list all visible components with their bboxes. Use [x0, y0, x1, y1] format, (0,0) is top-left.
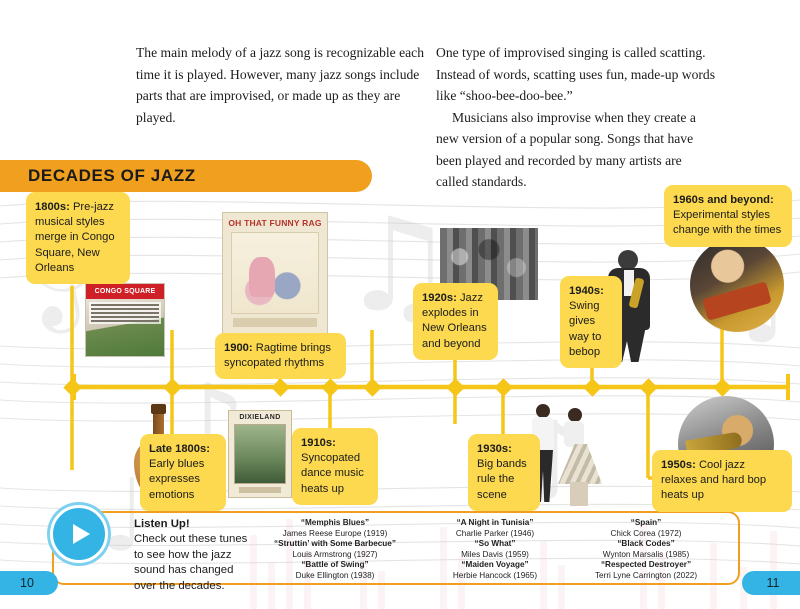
song-title: “Respected Destroyer”	[556, 560, 736, 571]
song-credit: Louis Armstrong (1927)	[246, 550, 424, 561]
timeline-callout-1910s: 1910s: Syncopated dance music heats up	[292, 428, 378, 505]
ragtime-sheet-title: OH THAT FUNNY RAG	[223, 213, 327, 228]
timeline-callout-1800s: 1800s: Pre-jazz musical styles merge in …	[26, 192, 130, 284]
play-triangle-icon	[73, 524, 90, 544]
song-credit: Duke Ellington (1938)	[246, 571, 424, 582]
song-title: “Memphis Blues”	[246, 518, 424, 529]
paragraph: The main melody of a jazz song is recogn…	[136, 42, 426, 128]
song-title: “Spain”	[556, 518, 736, 529]
listen-up-body: Check out these tunes to see how the jaz…	[134, 533, 247, 591]
book-spread-page: 𝄞 ♪ ♫ ♪ ♫ ♩ The main melody of a jazz so…	[0, 0, 800, 609]
song-credit: Terri Lyne Carrington (2022)	[556, 571, 736, 582]
song-credit: Herbie Hancock (1965)	[420, 571, 570, 582]
song-title: “Struttin’ with Some Barbecue”	[246, 539, 424, 550]
dixieland-sheet-music-photo: DIXIELAND	[228, 410, 292, 498]
song-title: “Maiden Voyage”	[420, 560, 570, 571]
play-button[interactable]	[50, 505, 108, 563]
song-list-column-2: “A Night in Tunisia” Charlie Parker (194…	[420, 518, 570, 582]
timeline-callout-1930s: 1930s: Big bands rule the scene	[468, 434, 540, 511]
song-credit: Charlie Parker (1946)	[420, 529, 570, 540]
song-credit: Miles Davis (1959)	[420, 550, 570, 561]
listen-up-text: Listen Up! Check out these tunes to see …	[134, 517, 254, 594]
song-list-column-1: “Memphis Blues” James Reese Europe (1919…	[246, 518, 424, 582]
timeline-callout-1940s: 1940s: Swing gives way to bebop	[560, 276, 622, 368]
song-title: “Battle of Swing”	[246, 560, 424, 571]
song-credit: James Reese Europe (1919)	[246, 529, 424, 540]
timeline-callout-1960s: 1960s and beyond: Experimental styles ch…	[664, 185, 792, 247]
timeline-callout-1900: 1900: Ragtime brings syncopated rhythms	[215, 333, 346, 379]
page-number-left: 10	[0, 571, 58, 595]
body-column-left: The main melody of a jazz song is recogn…	[136, 42, 426, 128]
congo-square-caption: CONGO SQUARE	[86, 284, 164, 299]
page-number-right: 11	[742, 571, 800, 595]
paragraph: One type of improvised singing is called…	[436, 42, 716, 107]
body-column-right: One type of improvised singing is called…	[436, 42, 716, 193]
song-title: “A Night in Tunisia”	[420, 518, 570, 529]
listen-up-heading: Listen Up!	[134, 518, 190, 530]
paragraph: Musicians also improvise when they creat…	[436, 107, 716, 193]
timeline-callout-late-1800s: Late 1800s: Early blues expresses emotio…	[140, 434, 226, 511]
congo-square-photo: CONGO SQUARE	[85, 283, 165, 357]
dixieland-sheet-title: DIXIELAND	[229, 411, 291, 421]
song-credit: Wynton Marsalis (1985)	[556, 550, 736, 561]
song-credit: Chick Corea (1972)	[556, 529, 736, 540]
song-title: “Black Codes”	[556, 539, 736, 550]
ragtime-sheet-music-photo: OH THAT FUNNY RAG	[222, 212, 328, 338]
song-title: “So What”	[420, 539, 570, 550]
timeline-callout-1950s: 1950s: Cool jazz relaxes and hard bop he…	[652, 450, 792, 512]
modern-guitarist-photo	[690, 238, 784, 332]
song-list-column-3: “Spain” Chick Corea (1972) “Black Codes”…	[556, 518, 736, 582]
section-title: DECADES OF JAZZ	[28, 166, 196, 186]
section-banner: DECADES OF JAZZ	[0, 160, 372, 192]
timeline-callout-1920s: 1920s: Jazz explodes in New Orleans and …	[413, 283, 498, 360]
